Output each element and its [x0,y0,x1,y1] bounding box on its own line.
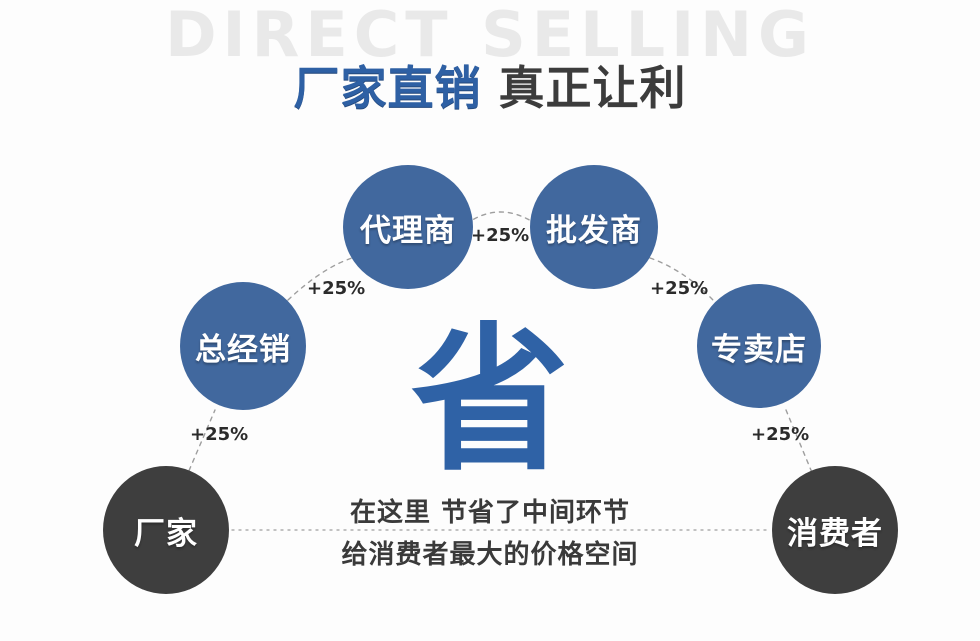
node-agent-label: 代理商 [360,205,456,250]
node-wholesaler-label: 批发商 [546,205,642,250]
node-store[interactable]: 专卖店 [697,284,821,408]
markup-label-wholesaler-store: +25% [650,278,708,299]
markup-label-manufacturer-distributor: +25% [190,424,248,445]
markup-label-store-consumer: +25% [751,424,809,445]
savings-glyph: 省 [0,322,980,480]
markup-label-agent-wholesaler: +25% [471,225,529,246]
node-manufacturer[interactable]: 厂家 [103,466,229,594]
node-distributor-label: 总经销 [195,324,291,369]
node-store-label: 专卖店 [711,324,807,369]
markup-label-distributor-agent: +25% [307,278,365,299]
caption-line-2: 给消费者最大的价格空间 [0,534,980,571]
connector-agent-wholesaler [466,212,536,224]
node-wholesaler[interactable]: 批发商 [530,165,658,289]
diagram-canvas: DIRECT SELLING 厂家直销 真正让利 省 厂家 总经销 代理商 批发… [0,0,980,641]
node-distributor[interactable]: 总经销 [180,282,306,410]
caption-line-1: 在这里 节省了中间环节 [0,492,980,529]
node-agent[interactable]: 代理商 [343,165,473,289]
node-consumer[interactable]: 消费者 [772,466,898,594]
